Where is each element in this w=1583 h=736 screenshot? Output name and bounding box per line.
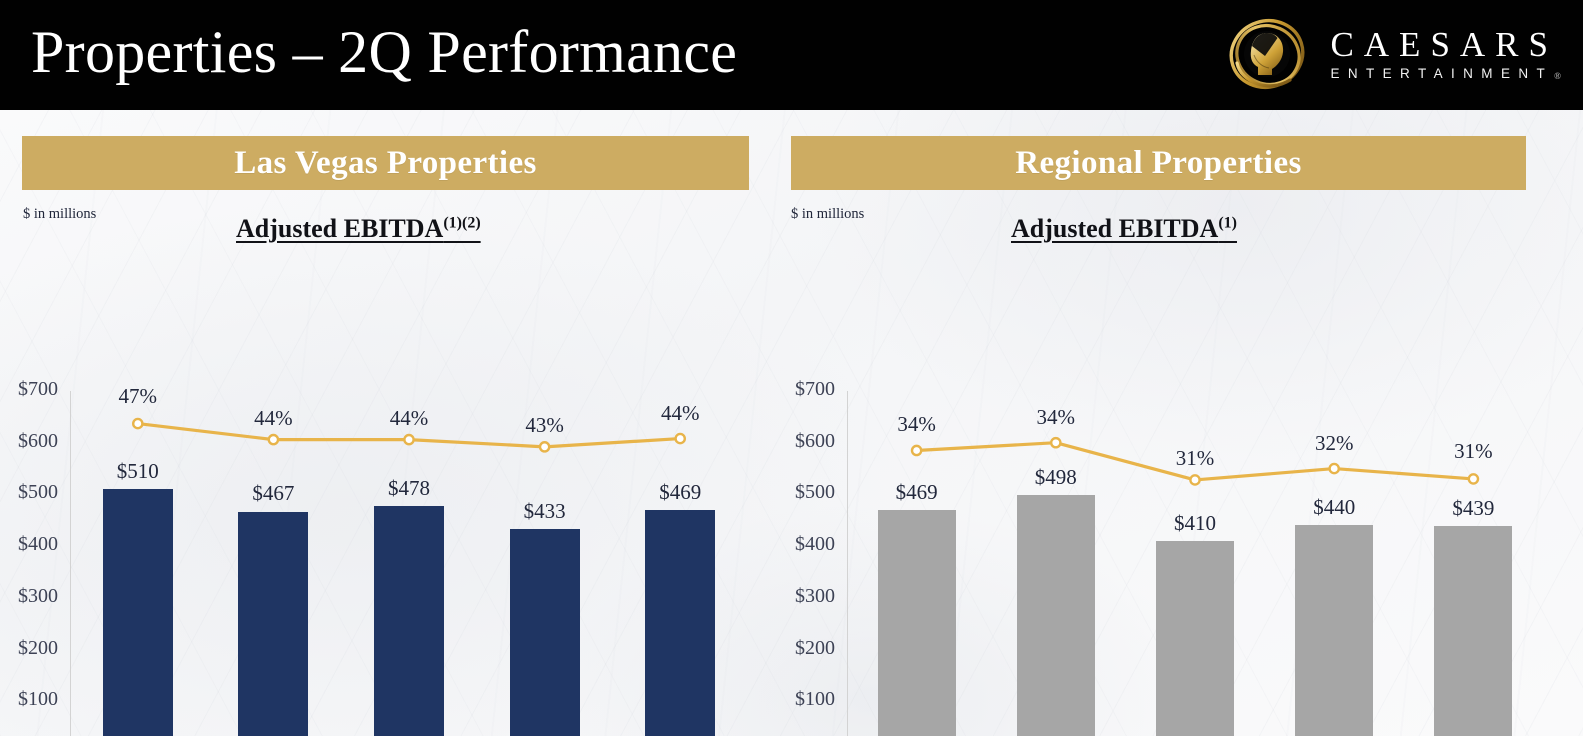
bar-group: $469 [645, 265, 715, 736]
bar-series: $510$467$478$433$469 [0, 265, 775, 736]
registered-mark-icon: ® [1554, 72, 1561, 81]
panel-regional: Regional Properties $ in millions Adjust… [775, 110, 1583, 736]
bar[interactable] [1434, 526, 1512, 736]
chart-las-vegas: $700$600$500$400$300$200$100-$510$467$47… [0, 265, 775, 736]
bar[interactable] [510, 529, 580, 736]
panel-las-vegas: Las Vegas Properties $ in millions Adjus… [0, 110, 775, 736]
bar[interactable] [1295, 525, 1373, 736]
bar[interactable] [878, 510, 956, 736]
chart-title-regional: Adjusted EBITDA(1) [1011, 214, 1237, 244]
margin-value-label: 34% [857, 412, 977, 437]
units-note-regional: $ in millions [791, 206, 864, 223]
bar-value-label: $433 [475, 499, 615, 524]
chart-regional: $700$600$500$400$300$200$100-$469$498$41… [775, 265, 1583, 736]
logo-wordmark: CAESARS ENTERTAINMENT ® [1330, 27, 1561, 81]
banner-las-vegas-label: Las Vegas Properties [234, 145, 537, 182]
caesars-logo: CAESARS ENTERTAINMENT ® [1224, 6, 1561, 102]
bar[interactable] [1017, 495, 1095, 736]
margin-value-label: 43% [485, 413, 605, 438]
bar-value-label: $469 [847, 480, 987, 505]
margin-value-label: 47% [78, 384, 198, 409]
chart-title-regional-footnote: (1) [1218, 214, 1237, 231]
bar-value-label: $478 [339, 476, 479, 501]
chart-title-regional-main: Adjusted EBITDA [1011, 214, 1218, 243]
margin-value-label: 44% [213, 406, 333, 431]
bar-value-label: $510 [68, 459, 208, 484]
chart-title-las-vegas-main: Adjusted EBITDA [236, 214, 443, 243]
bar-value-label: $467 [203, 481, 343, 506]
bar-group: $478 [374, 265, 444, 736]
banner-regional: Regional Properties [791, 136, 1526, 190]
bar-group: $510 [103, 265, 173, 736]
caesars-emblem-icon [1224, 11, 1310, 97]
bar-group: $467 [238, 265, 308, 736]
margin-value-label: 34% [996, 405, 1116, 430]
logo-subtitle: ENTERTAINMENT [1330, 67, 1553, 81]
bar-value-label: $498 [986, 465, 1126, 490]
margin-value-label: 32% [1274, 431, 1394, 456]
margin-value-label: 31% [1135, 446, 1255, 471]
bar-group: $440 [1295, 265, 1373, 736]
bar-series: $469$498$410$440$439 [775, 265, 1583, 736]
chart-title-las-vegas-footnote: (1)(2) [443, 214, 480, 231]
bar-group: $498 [1017, 265, 1095, 736]
banner-regional-label: Regional Properties [1015, 145, 1302, 182]
bar[interactable] [238, 512, 308, 736]
bar-group: $439 [1434, 265, 1512, 736]
logo-name: CAESARS [1330, 27, 1561, 62]
page-title: Properties – 2Q Performance [31, 8, 737, 96]
bar-value-label: $469 [610, 480, 750, 505]
banner-las-vegas: Las Vegas Properties [22, 136, 749, 190]
margin-value-label: 31% [1413, 439, 1533, 464]
bar-group: $433 [510, 265, 580, 736]
bar[interactable] [1156, 541, 1234, 736]
bar-group: $469 [878, 265, 956, 736]
margin-value-label: 44% [349, 406, 469, 431]
logo-subtitle-row: ENTERTAINMENT ® [1330, 67, 1561, 81]
bar-value-label: $440 [1264, 495, 1404, 520]
slide-header: Properties – 2Q Performance [0, 0, 1583, 110]
bar-value-label: $439 [1403, 496, 1543, 521]
slide-canvas: Properties – 2Q Performance [0, 0, 1583, 736]
bar[interactable] [374, 506, 444, 736]
chart-title-las-vegas: Adjusted EBITDA(1)(2) [236, 214, 481, 244]
margin-value-label: 44% [620, 401, 740, 426]
bar-group: $410 [1156, 265, 1234, 736]
bar-value-label: $410 [1125, 511, 1265, 536]
bar[interactable] [645, 510, 715, 736]
bar[interactable] [103, 489, 173, 736]
units-note-las-vegas: $ in millions [23, 206, 96, 223]
